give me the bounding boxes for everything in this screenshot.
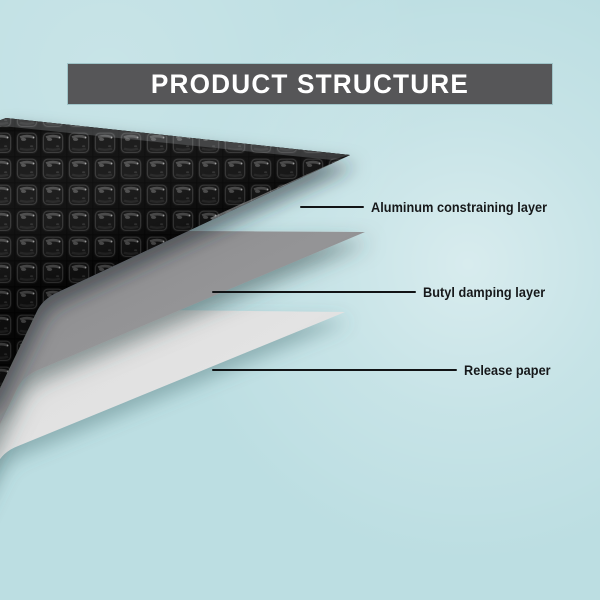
callout-butyl-damping-layer: Butyl damping layer [212,282,553,302]
callout-release-paper: Release paper [212,360,556,380]
leader-line-butyl [212,291,416,293]
title-banner: PRODUCT STRUCTURE [67,63,553,105]
leader-line-release [212,369,457,371]
leader-line-aluminum [300,206,364,208]
product-structure-image: PRODUCT STRUCTURE Aluminum constraining … [0,0,600,600]
callout-label-butyl: Butyl damping layer [423,285,545,300]
callout-label-release: Release paper [464,363,551,378]
page-title: PRODUCT STRUCTURE [151,71,469,98]
callout-label-aluminum: Aluminum constraining layer [371,200,547,215]
callout-aluminum-constraining-layer: Aluminum constraining layer [300,197,558,217]
